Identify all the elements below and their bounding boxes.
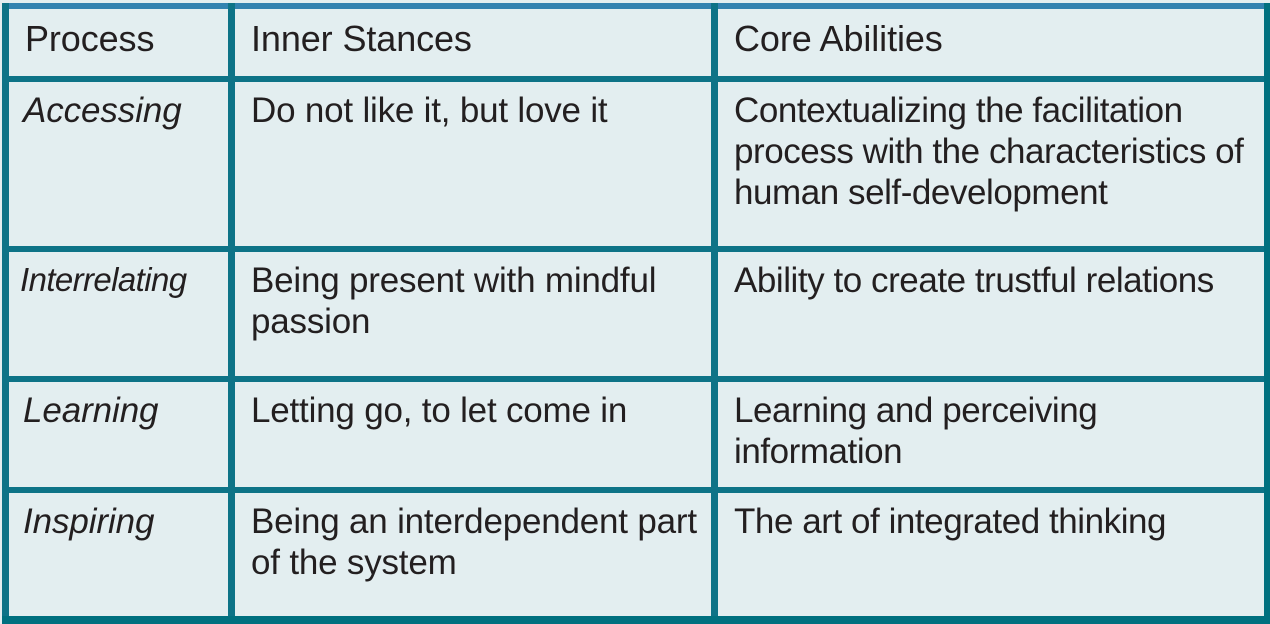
- header-row: Process Inner Stances Core Abilities: [6, 6, 1268, 79]
- table-row: Inspiring Being an interdependent part o…: [6, 490, 1268, 620]
- column-header-inner-stances: Inner Stances: [232, 6, 715, 79]
- table-container: Process Inner Stances Core Abilities Acc…: [0, 0, 1270, 588]
- cell-inner-stances-learning: Letting go, to let come in: [232, 379, 715, 490]
- column-header-process: Process: [6, 6, 232, 79]
- cell-process-interrelating: Interrelating: [6, 249, 232, 379]
- cell-inner-stances-accessing: Do not like it, but love it: [232, 79, 715, 249]
- table-row: Learning Letting go, to let come in Lear…: [6, 379, 1268, 490]
- cell-process-learning: Learning: [6, 379, 232, 490]
- table-row: Interrelating Being present with mindful…: [6, 249, 1268, 379]
- cell-core-abilities-learning: Learning and perceiving information: [715, 379, 1268, 490]
- cell-core-abilities-accessing: Contextualizing the facilitation process…: [715, 79, 1268, 249]
- cell-core-abilities-interrelating: Ability to create trustful relations: [715, 249, 1268, 379]
- cell-process-inspiring: Inspiring: [6, 490, 232, 620]
- cell-inner-stances-interrelating: Being present with mindful passion: [232, 249, 715, 379]
- column-header-core-abilities: Core Abilities: [715, 6, 1268, 79]
- table-header: Process Inner Stances Core Abilities: [6, 6, 1268, 79]
- table-body: Accessing Do not like it, but love it Co…: [6, 79, 1268, 620]
- cell-inner-stances-inspiring: Being an interdependent part of the syst…: [232, 490, 715, 620]
- cell-core-abilities-inspiring: The art of integrated thinking: [715, 490, 1268, 620]
- cell-process-accessing: Accessing: [6, 79, 232, 249]
- table-row: Accessing Do not like it, but love it Co…: [6, 79, 1268, 249]
- process-abilities-table: Process Inner Stances Core Abilities Acc…: [2, 3, 1270, 624]
